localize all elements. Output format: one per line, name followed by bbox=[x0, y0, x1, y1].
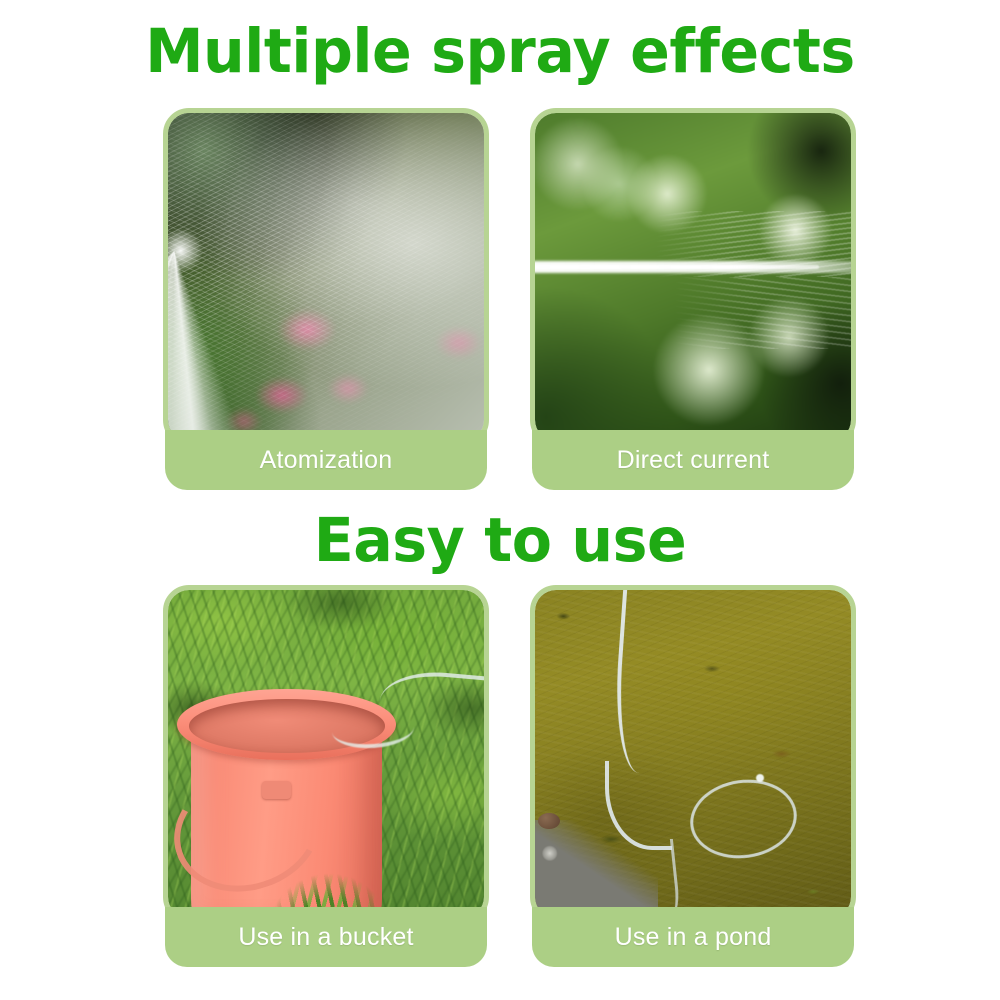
caption-use-in-a-bucket: Use in a bucket bbox=[165, 907, 487, 967]
pond-tube-end-cap bbox=[756, 774, 764, 782]
bucket-handle-grip bbox=[262, 781, 292, 799]
caption-use-in-a-pond: Use in a pond bbox=[532, 907, 854, 967]
atomization-photo-frame bbox=[163, 108, 489, 446]
product-feature-collage: Multiple spray effects Atomization bbox=[0, 0, 1000, 1000]
caption-direct-current: Direct current bbox=[532, 430, 854, 490]
direct-current-lower-spray bbox=[674, 277, 851, 349]
pond-photo-frame bbox=[530, 585, 856, 923]
caption-atomization: Atomization bbox=[165, 430, 487, 490]
section-heading-easy-to-use: Easy to use bbox=[20, 505, 980, 576]
pond-photo bbox=[535, 590, 851, 918]
direct-current-photo-frame bbox=[530, 108, 856, 446]
direct-current-water-jet-core bbox=[535, 265, 819, 269]
bucket-photo-frame bbox=[163, 585, 489, 923]
bucket-photo bbox=[168, 590, 484, 918]
atomization-photo bbox=[168, 113, 484, 441]
section-heading-multiple-spray-effects: Multiple spray effects bbox=[20, 16, 980, 87]
atomization-mist-cloud bbox=[168, 113, 484, 441]
direct-current-photo bbox=[535, 113, 851, 441]
